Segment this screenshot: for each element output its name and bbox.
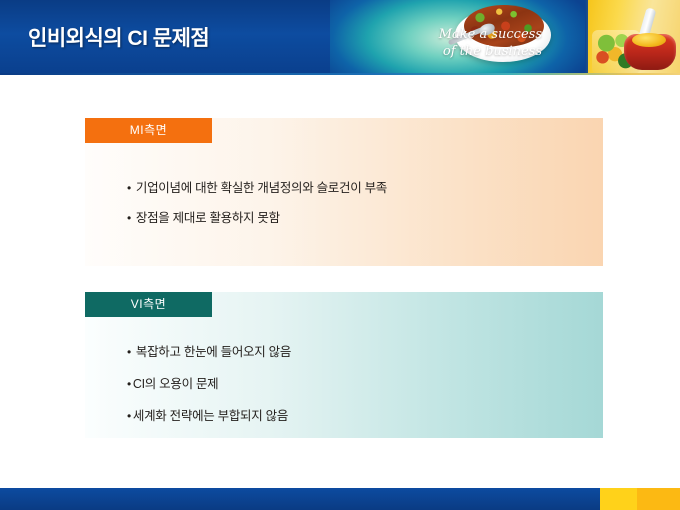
list-item: • 기업이념에 대한 확실한 개념정의와 슬로건이 부족: [127, 180, 593, 197]
header-tagline: Make a success of the business: [372, 26, 542, 60]
tagline-line-1: Make a success: [439, 27, 542, 42]
bullet-dot-icon: •: [127, 180, 131, 197]
slide-footer: [0, 488, 680, 510]
footer-gold-block: [637, 488, 680, 510]
bullet-list-mi: • 기업이념에 대한 확실한 개념정의와 슬로건이 부족 • 장점을 제대로 활…: [127, 180, 593, 240]
bullet-dot-icon: •: [127, 408, 131, 425]
list-item: • CI의 오용이 문제: [127, 376, 593, 393]
list-item-label: 세계화 전략에는 부합되지 않음: [133, 408, 288, 425]
footer-blue-bar: [0, 488, 600, 510]
list-item: • 복잡하고 한눈에 들어오지 않음: [127, 344, 593, 361]
list-item-label: 복잡하고 한눈에 들어오지 않음: [136, 344, 291, 361]
bullet-dot-icon: •: [127, 210, 131, 227]
list-item-label: CI의 오용이 문제: [133, 376, 218, 393]
section-panel-mi: MI측면 • 기업이념에 대한 확실한 개념정의와 슬로건이 부족 • 장점을 …: [85, 118, 603, 266]
slide-header: 인비외식의 CI 문제점 Make a success of the busin…: [0, 0, 680, 75]
footer-yellow-block: [600, 488, 637, 510]
section-tab-mi[interactable]: MI측면: [85, 118, 212, 143]
list-item-label: 기업이념에 대한 확실한 개념정의와 슬로건이 부족: [136, 180, 387, 197]
section-tab-vi[interactable]: VI측면: [85, 292, 212, 317]
bullet-dot-icon: •: [127, 376, 131, 393]
page-title: 인비외식의 CI 문제점: [28, 22, 209, 52]
section-panel-vi: VI측면 • 복잡하고 한눈에 들어오지 않음 • CI의 오용이 문제 • 세…: [85, 292, 603, 438]
bullet-dot-icon: •: [127, 344, 131, 361]
tagline-line-2: of the business: [372, 43, 542, 60]
header-underline: [0, 73, 680, 75]
list-item: • 세계화 전략에는 부합되지 않음: [127, 408, 593, 425]
list-item: • 장점을 제대로 활용하지 못함: [127, 210, 593, 227]
slide: 인비외식의 CI 문제점 Make a success of the busin…: [0, 0, 680, 510]
bullet-list-vi: • 복잡하고 한눈에 들어오지 않음 • CI의 오용이 문제 • 세계화 전략…: [127, 344, 593, 440]
list-item-label: 장점을 제대로 활용하지 못함: [136, 210, 280, 227]
pot-soup-shape: [632, 33, 666, 47]
